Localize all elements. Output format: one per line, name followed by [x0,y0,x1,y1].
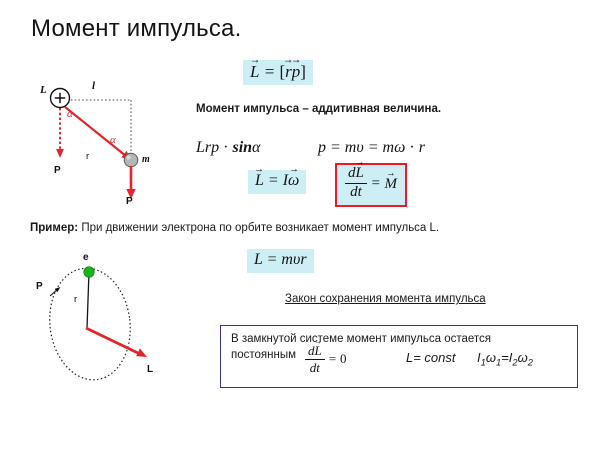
page-title: Момент импульса. [31,15,241,43]
orbit-ellipse [43,264,136,385]
vector-diagram-label-L: L [40,84,47,96]
conservation-law-box: В замкнутой системе момент импульса оста… [220,325,578,388]
conservation-equals: = [501,350,509,365]
example-text: При движении электрона по орбите возника… [78,222,439,234]
formula-momentum-eq2: = [364,139,383,156]
vector-diagram-alpha-bottom: α [110,134,116,146]
formula-momentum-upsilon: υ [356,139,363,156]
formula-moment-of-inertia: L = Iω [248,170,306,194]
conservation-omega2-sub: 2 [528,358,533,368]
formula-moment-of-inertia-omega: ω [288,173,299,190]
vector-diagram-label-r: r [86,151,89,162]
additive-statement: Момент импульса – аддитивная величина. [196,103,441,115]
conservation-const-expression: L= const [406,350,456,365]
vector-diagram-label-l: l [92,80,95,92]
example-line: Пример: При движении электрона по орбите… [30,222,439,234]
formula-electron-orbit: L = mυr [247,249,314,273]
formula-momentum-r: r [419,139,425,156]
formula-moment-of-inertia-L: L [255,173,264,190]
vector-diagram-svg [36,72,176,207]
formula-magnitude-sin: sin [232,139,252,156]
conservation-dldt-numerator: dL [305,344,325,360]
formula-momentum-m1: m [345,139,357,156]
vector-diagram-alpha-top: α [67,108,73,120]
formula-momentum-dot: · [405,139,418,156]
conservation-dldt-denominator: dt [305,360,325,375]
conservation-line-1: В замкнутой системе момент импульса оста… [231,333,491,345]
formula-magnitude-rp: rp [205,139,219,156]
formula-electron-orbit-m: m [281,251,293,268]
formula-electron-orbit-eq: = [263,251,282,268]
momentum-p-dotted-arrowhead [56,149,64,158]
radius-r-vector [65,107,126,156]
formula-moment-of-inertia-eq: = [264,172,283,189]
formula-momentum-eq1: = [326,139,345,156]
formula-torque-M: M [384,177,397,193]
orbit-diagram-label-e: e [83,252,89,263]
conservation-dldt-L: L [315,344,322,358]
mass-sphere [124,153,138,167]
vector-diagram-label-P-left: P [54,165,61,176]
formula-momentum-p: p [318,139,326,156]
formula-cross-product: L = [rp] [243,60,313,85]
conservation-omega2: ω [518,350,528,365]
formula-torque-numerator: dL [345,166,367,184]
conservation-line-2-word: постоянным [231,349,296,361]
formula-torque-box: dL dt = M [335,163,407,207]
conservation-dldt-fraction: dL dt [305,344,325,374]
mass-sphere-highlight [126,155,130,159]
conservation-omega1: ω [486,350,496,365]
formula-torque-fraction: dL dt [345,166,367,201]
formula-torque-d: d [348,165,356,181]
formula-magnitude-L: L [196,139,205,156]
formula-electron-orbit-L: L [254,251,263,268]
orbit-diagram-label-P: P [36,281,43,292]
formula-magnitude-alpha: α [252,139,260,156]
angular-momentum-L-vector [86,328,140,354]
conservation-inertia-expression: I1ω1=I2ω2 [477,350,533,368]
formula-torque-denominator: dt [345,184,367,201]
vector-diagram-label-m: m [142,154,150,165]
formula-torque-L: L [356,166,364,182]
formula-cross-product-p: p [292,63,301,81]
formula-cross-product-close-bracket: ] [300,62,306,81]
formula-momentum-omega: ω [394,139,405,156]
orbit-diagram-label-r: r [74,294,77,305]
formula-magnitude: Lrp · sinα [196,139,260,157]
conservation-dldt-eq: = [325,351,340,366]
orbit-radius-line [87,272,89,328]
formula-cross-product-L: L [250,63,259,81]
conservation-dldt-formula: dL dt = 0 [305,345,347,375]
slide-canvas: Момент импульса. L l α [0,0,600,450]
conservation-dldt-zero: 0 [340,351,347,366]
electron-dot [84,267,94,277]
formula-electron-orbit-r: r [300,251,306,268]
formula-torque-eq: = [367,176,385,192]
vector-diagram-label-P-bottom: P [126,196,133,207]
formula-momentum: p = mυ = mω · r [318,139,425,157]
formula-magnitude-dot: · [219,139,232,156]
orbit-diagram-svg [32,256,192,396]
electron-orbit-diagram: e P r L [32,256,192,396]
conservation-law-heading: Закон сохранения момента импульса [285,293,486,305]
angular-momentum-vector-diagram: L l α α r m P P [36,72,176,207]
formula-momentum-m2: m [383,139,395,156]
formula-cross-product-eq: = [259,62,279,81]
orbit-diagram-label-L: L [147,364,153,375]
example-label: Пример: [30,222,78,234]
